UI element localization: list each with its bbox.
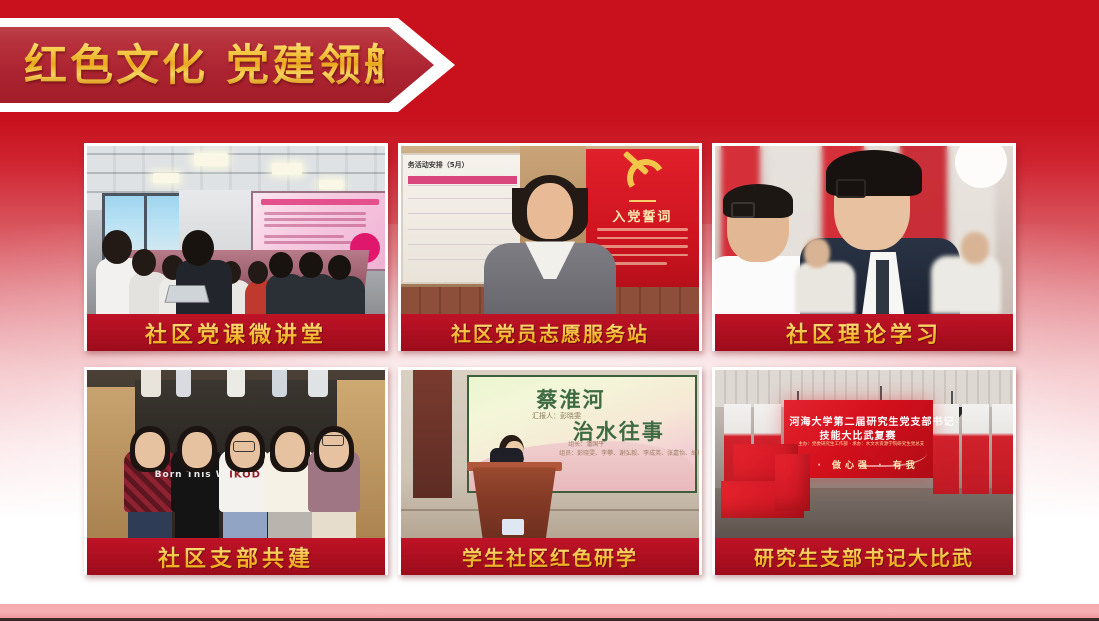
caption-text: 社区党课微讲堂 [145,317,327,349]
ceiling-light [153,173,179,183]
scene-presentation: 蔡淮河 治水往事 汇报人：彭晓雯 组长：潘国平 组员：彭晓雯、李攀、谢弘毅、李成… [401,370,699,538]
display-cube [775,454,811,511]
caption-text: 社区党员志愿服务站 [451,318,649,347]
slide-title-line1: 蔡淮河 [536,384,605,414]
wood-wall-panel [413,370,452,498]
podium-crest [502,519,524,535]
caption-text: 社区支部共建 [158,541,314,573]
slide-meta-line: 组员：彭晓雯、李攀、谢弘毅、李成英、张嘉怡、胡斯丽、黄卫燕 [559,448,699,457]
hanging-cloth [308,370,329,397]
schedule-row [408,198,518,208]
photo-competition-venue: 河海大学第二届研究生党支部书记 技能大比武复赛 主办：党委研究生工作部 · 承办… [715,370,1013,538]
photo-caption: 学生社区红色研学 [401,538,699,575]
person-head [269,252,293,278]
scene-competition-venue: 河海大学第二届研究生党支部书记 技能大比武复赛 主办：党委研究生工作部 · 承办… [715,370,1013,538]
slide-text-line [264,212,366,215]
wall-base-line [401,509,699,511]
person-head [527,183,573,239]
scene-volunteer-station: 务活动安排（5月） [401,146,699,314]
person-head [102,230,132,264]
photo-caption: 社区党员志愿服务站 [401,314,699,351]
poster-root: 红色文化 党建领航 [0,0,1099,621]
caption-text: 学生社区红色研学 [462,542,638,571]
person-head [299,252,323,278]
hanging-cloth [272,370,287,397]
hanging-cloth [176,370,191,397]
header-banner: 红色文化 党建领航 [0,18,455,112]
oath-text-line [597,237,688,240]
ceiling-light [272,163,302,175]
photo-meeting-room [87,146,385,314]
photo-card[interactable]: 社区党课微讲堂 [84,143,388,351]
person-head [135,432,165,468]
photo-caption: 社区支部共建 [87,538,385,575]
oath-text-line [597,245,688,248]
person-head [132,249,156,276]
person [325,276,365,314]
caption-text: 研究生支部书记大比武 [754,542,974,571]
oath-text-line [597,228,688,231]
photo-grid: 社区党课微讲堂 务活动安排（5月） [84,143,1020,575]
photo-presentation: 蔡淮河 治水往事 汇报人：彭晓雯 组长：潘国平 组员：彭晓雯、李攀、谢弘毅、李成… [401,370,699,538]
person-head [248,261,268,284]
rollup-banner [992,404,1013,495]
bottom-pink-strip [0,604,1099,618]
caption-text: 社区理论学习 [786,317,942,349]
slide-text-line [264,218,366,221]
person-head [961,232,989,264]
oath-title: 入党誓词 [586,206,699,225]
scene-dormitory: Born This Way IKOD [87,370,385,538]
person-legs [268,510,312,538]
slide-text-line [264,224,366,227]
hanging-cloth [227,370,245,397]
ceiling-light [319,180,343,189]
slide-text-line [264,241,353,244]
slide-header-bar [261,199,379,204]
slide-presenter: 汇报人：彭晓雯 [532,411,581,421]
glasses-icon [731,202,755,218]
schedule-table-header [408,176,518,184]
hanging-cloth [141,370,162,397]
ceiling-light [194,153,228,166]
led-subtitle: 主办：党委研究生工作部 · 承办：水文水资源学院研究生党总支 [798,442,917,449]
scene-audience [715,146,1013,314]
schedule-row [408,213,518,223]
photo-card[interactable]: Born This Way IKOD [84,367,388,575]
schedule-row [408,185,518,195]
slide-meta-line: 组长：潘国平 [568,439,604,448]
student [319,406,375,538]
poster-divider [629,200,656,202]
photo-card[interactable]: 务活动安排（5月） [398,143,702,351]
glasses-icon [322,435,344,446]
person-head [182,432,212,468]
rollup-banner [962,404,989,495]
photo-theory-study [715,146,1013,314]
page-title: 红色文化 党建领航 [24,40,384,92]
person-legs [128,510,172,538]
person-body [484,243,616,314]
glasses-icon [233,441,255,452]
glasses-icon [836,179,866,198]
schedule-row [408,229,518,239]
photo-volunteer-station: 务活动安排（5月） [401,146,699,314]
polo-collar [525,241,575,279]
photo-card[interactable]: 蔡淮河 治水往事 汇报人：彭晓雯 组长：潘国平 组员：彭晓雯、李攀、谢弘毅、李成… [398,367,702,575]
slide-text-line [264,235,344,238]
photo-card[interactable]: 河海大学第二届研究生党支部书记 技能大比武复赛 主办：党委研究生工作部 · 承办… [712,367,1016,575]
led-title-line2: 技能大比武复赛 [789,427,926,442]
person-legs [223,510,267,538]
hammer-sickle-icon [615,156,669,190]
photo-dormitory: Born This Way IKOD [87,370,385,538]
photo-caption: 研究生支部书记大比武 [715,538,1013,575]
person-background [795,262,855,314]
schedule-board-title: 务活动安排（5月） [408,160,511,171]
necktie [876,260,889,314]
person-background [931,256,1001,314]
led-title-line1: 河海大学第二届研究生党支部书记 [789,413,926,428]
laptop [165,285,210,303]
person-head [804,238,830,268]
scene-meeting-room [87,146,385,314]
person-legs [175,510,219,538]
photo-caption: 社区党课微讲堂 [87,314,385,351]
photo-caption: 社区理论学习 [715,314,1013,351]
photo-card[interactable]: 社区理论学习 [712,143,1016,351]
person-legs [312,510,356,538]
person-head [275,432,305,468]
